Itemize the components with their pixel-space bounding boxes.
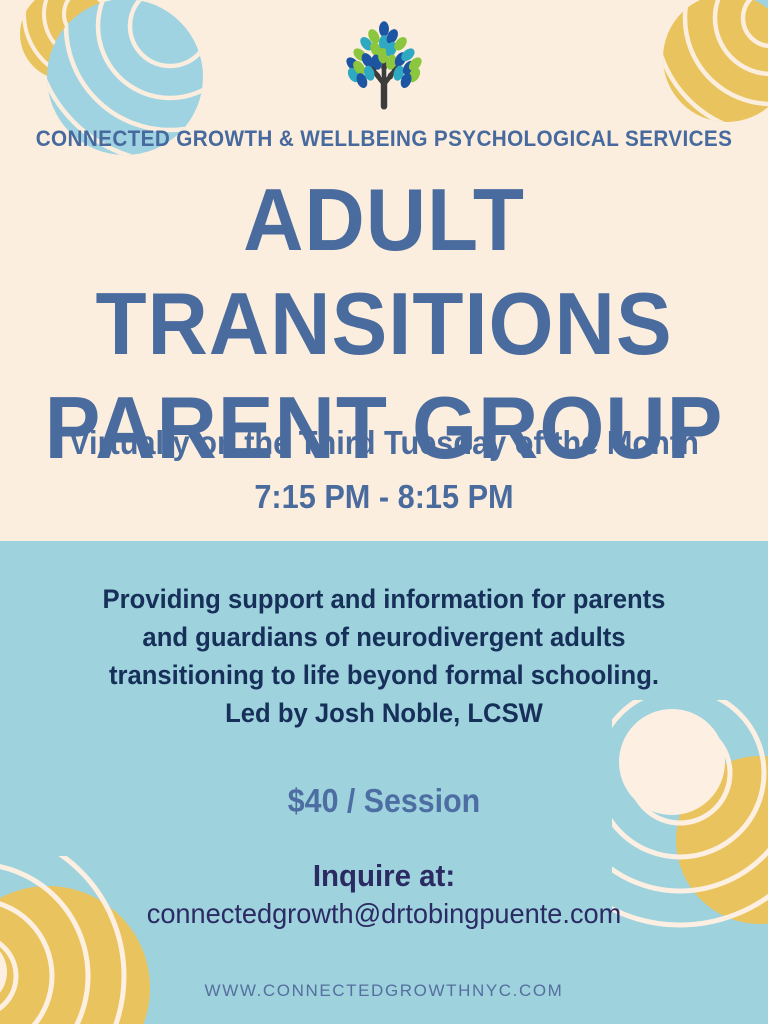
description-block: Providing support and information for pa… (19, 580, 749, 732)
contact-email[interactable]: connectedgrowth@drtobingpuente.com (12, 898, 757, 930)
headline-line-1: ADULT TRANSITIONS (19, 168, 749, 376)
facilitator-name: Led by Josh Noble, LCSW (19, 694, 749, 732)
schedule-frequency: Virtually on the Third Tuesday of the Mo… (27, 416, 741, 470)
description-line-2: and guardians of neurodivergent adults (19, 618, 749, 656)
schedule-block: Virtually on the Third Tuesday of the Mo… (27, 416, 741, 524)
tree-of-people-logo-icon (338, 18, 430, 115)
description-line-1: Providing support and information for pa… (19, 580, 749, 618)
website-url[interactable]: WWW.CONNECTEDGROWTHNYC.COM (0, 981, 768, 1001)
organization-name: CONNECTED GROWTH & WELLBEING PSYCHOLOGIC… (31, 126, 738, 152)
schedule-time: 7:15 PM - 8:15 PM (27, 470, 741, 524)
price-text: $40 / Session (31, 782, 738, 820)
logo-container (0, 18, 768, 115)
inquire-label: Inquire at: (19, 858, 749, 894)
description-line-3: transitioning to life beyond formal scho… (19, 656, 749, 694)
flyer-poster: CONNECTED GROWTH & WELLBEING PSYCHOLOGIC… (0, 0, 768, 1024)
